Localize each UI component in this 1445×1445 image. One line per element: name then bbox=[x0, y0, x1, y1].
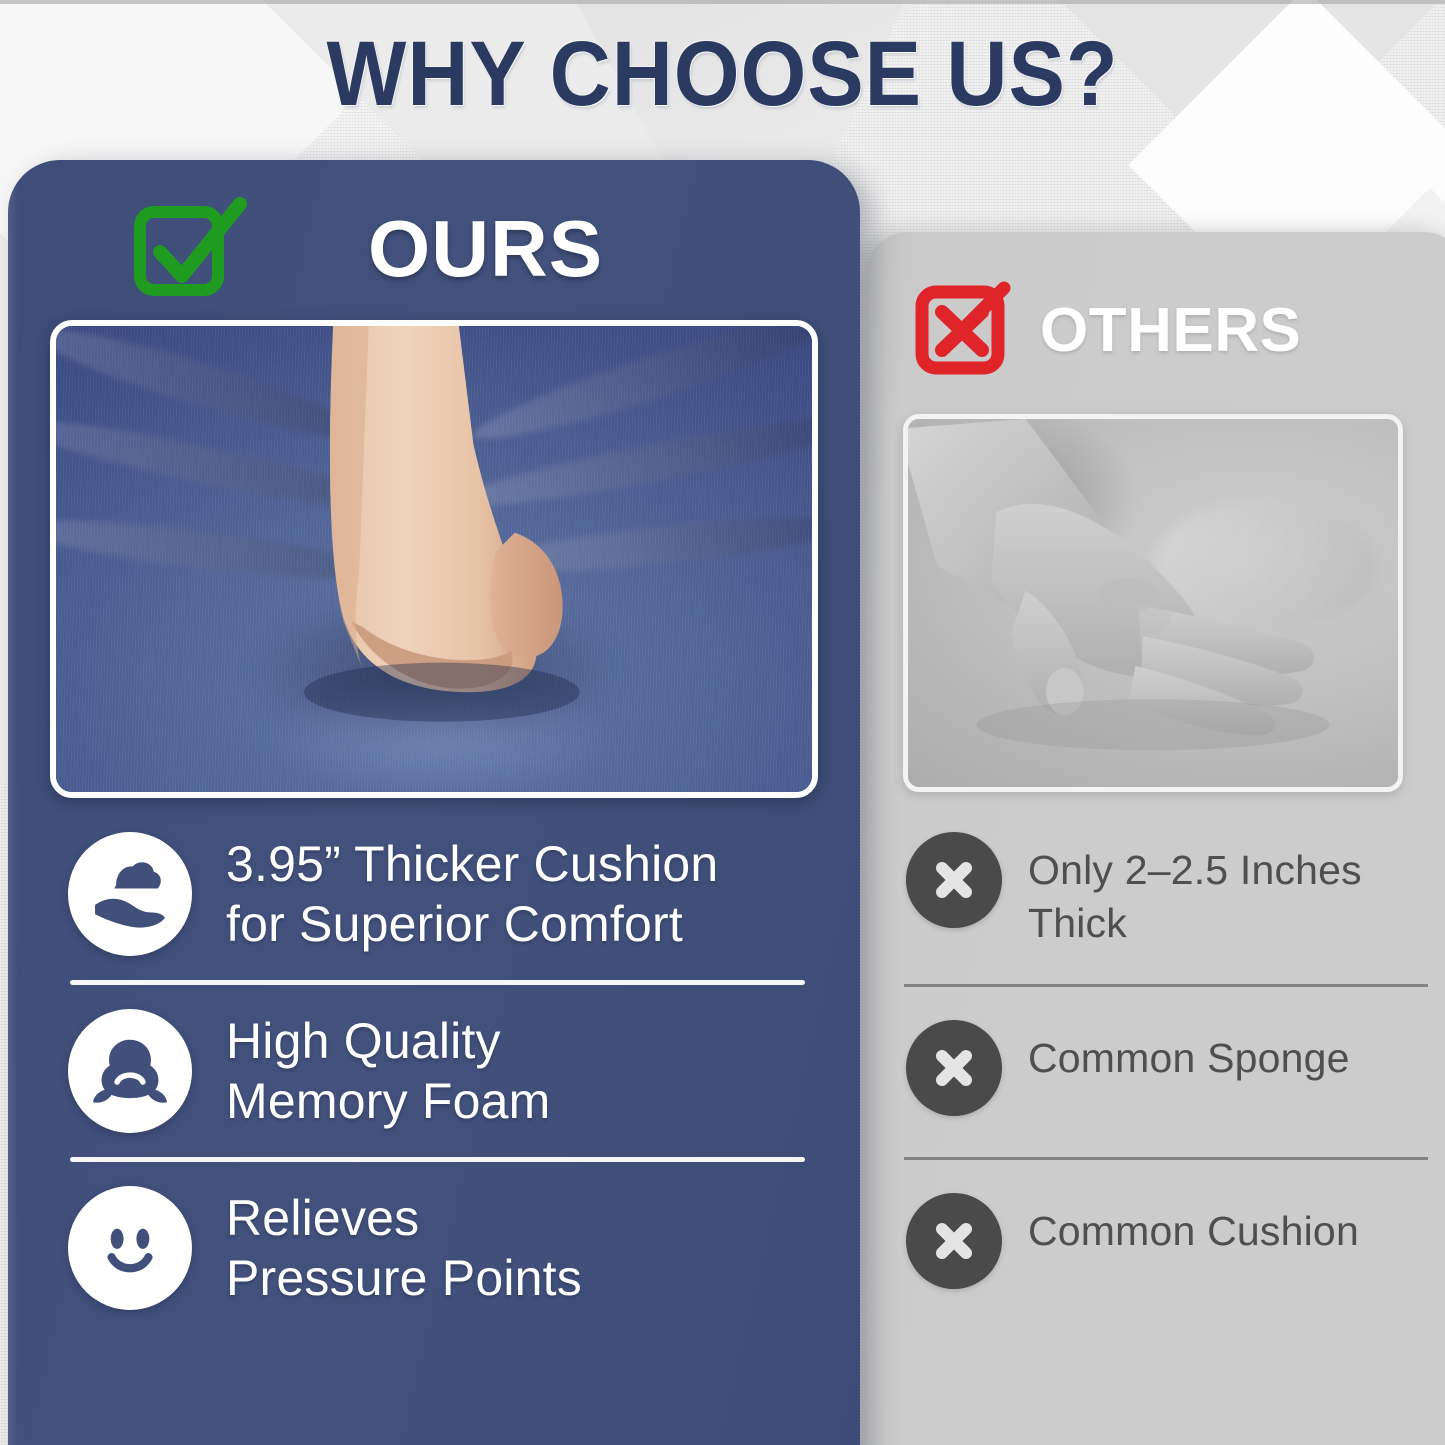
ours-panel: OURS bbox=[8, 160, 860, 1445]
divider bbox=[904, 1157, 1428, 1160]
red-x-checkbox-icon bbox=[912, 280, 1012, 380]
others-feature-text: Common Cushion bbox=[1028, 1193, 1359, 1258]
ours-header: OURS bbox=[130, 190, 603, 308]
list-item: 3.95” Thicker Cushion for Superior Comfo… bbox=[8, 832, 860, 956]
feature-line: High Quality bbox=[226, 1013, 501, 1069]
ours-feature-text: 3.95” Thicker Cushion for Superior Comfo… bbox=[226, 834, 718, 954]
smiley-face-icon bbox=[68, 1186, 192, 1310]
list-item: Common Sponge bbox=[866, 1020, 1445, 1124]
memory-foam-pillow-icon bbox=[68, 1009, 192, 1133]
others-header: OTHERS bbox=[912, 280, 1301, 380]
others-panel: OTHERS bbox=[866, 232, 1445, 1445]
ours-title: OURS bbox=[368, 203, 603, 295]
circle-x-icon bbox=[906, 1020, 1002, 1116]
page-title: WHY CHOOSE US? bbox=[58, 22, 1387, 127]
divider bbox=[70, 980, 805, 985]
hand-holding-cushion-icon bbox=[68, 832, 192, 956]
list-item: High Quality Memory Foam bbox=[8, 1009, 860, 1133]
feature-line: 3.95” Thicker Cushion bbox=[226, 836, 718, 892]
hand-resting-on-flat-gray-foam-photo bbox=[903, 414, 1403, 792]
ours-feature-text: Relieves Pressure Points bbox=[226, 1188, 582, 1308]
feature-line: Only 2–2.5 Inches bbox=[1028, 847, 1362, 893]
top-edge-line bbox=[0, 0, 1445, 4]
feature-line: for Superior Comfort bbox=[226, 896, 683, 952]
feature-line: Thick bbox=[1028, 900, 1127, 946]
ours-feature-text: High Quality Memory Foam bbox=[226, 1011, 550, 1131]
others-feature-text: Only 2–2.5 Inches Thick bbox=[1028, 832, 1362, 951]
feature-line: Common Cushion bbox=[1028, 1208, 1359, 1254]
others-feature-text: Common Sponge bbox=[1028, 1020, 1350, 1085]
others-title: OTHERS bbox=[1040, 295, 1301, 366]
green-checkbox-check-icon bbox=[130, 190, 248, 308]
feature-line: Common Sponge bbox=[1028, 1035, 1350, 1081]
list-item: Only 2–2.5 Inches Thick bbox=[866, 832, 1445, 951]
divider bbox=[904, 984, 1428, 987]
fist-pressing-into-blue-cushion-photo bbox=[50, 320, 818, 798]
divider bbox=[70, 1157, 805, 1162]
circle-x-icon bbox=[906, 832, 1002, 928]
feature-line: Relieves bbox=[226, 1190, 419, 1246]
list-item: Relieves Pressure Points bbox=[8, 1186, 860, 1310]
ours-feature-list: 3.95” Thicker Cushion for Superior Comfo… bbox=[8, 832, 860, 1310]
feature-line: Memory Foam bbox=[226, 1073, 550, 1129]
others-feature-list: Only 2–2.5 Inches Thick Common Sponge bbox=[866, 832, 1445, 1297]
feature-line: Pressure Points bbox=[226, 1250, 582, 1306]
circle-x-icon bbox=[906, 1193, 1002, 1289]
list-item: Common Cushion bbox=[866, 1193, 1445, 1297]
infographic-canvas: WHY CHOOSE US? OTHERS bbox=[0, 0, 1445, 1445]
